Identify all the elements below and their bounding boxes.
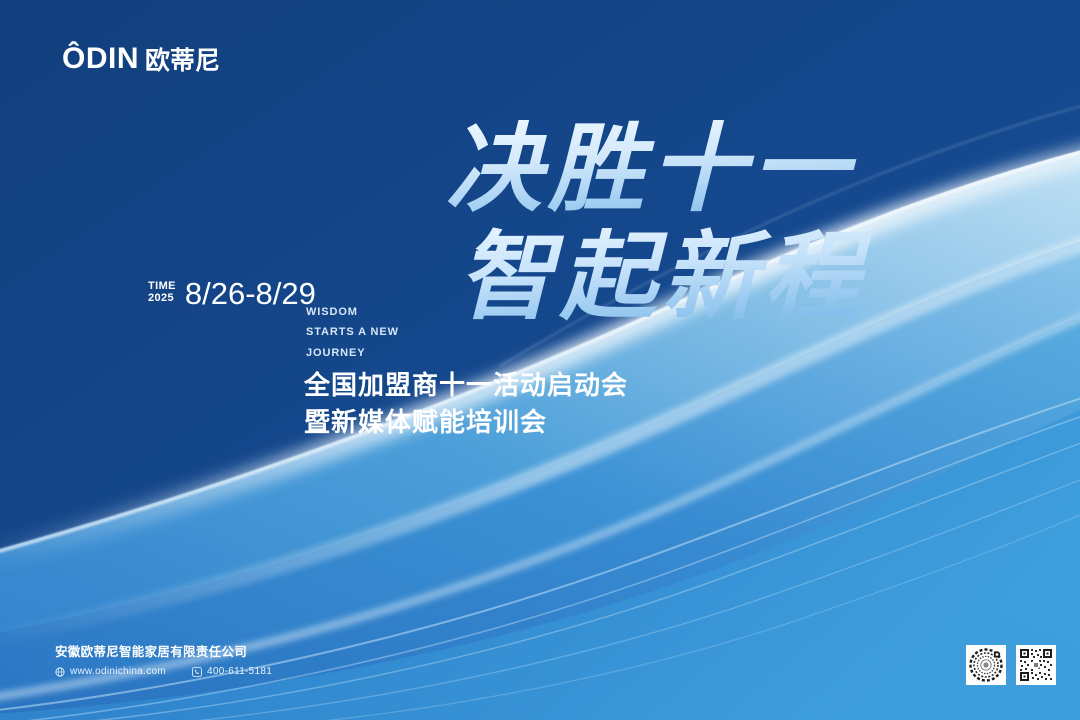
footer-phone[interactable]: 400-611-5181 <box>192 666 272 677</box>
headline-line-2: 智起新程 <box>458 221 873 333</box>
event-date-label-time: TIME <box>148 281 176 293</box>
event-date-range: 8/26-8/29 <box>185 278 316 309</box>
footer-company-name: 安徽欧蒂尼智能家居有限责任公司 <box>55 644 272 659</box>
brand-logo-latin: ÔDIN <box>62 44 139 74</box>
event-date-label: TIME 2025 <box>148 281 176 306</box>
qr-code-group <box>966 645 1056 685</box>
circular-qr-code[interactable] <box>966 645 1006 685</box>
event-subtitle-line-2: 暨新媒体赋能培训会 <box>304 405 628 442</box>
english-tagline: WISDOM STARTS A NEW JOURNEY <box>306 302 399 363</box>
footer-website[interactable]: www.odinichina.com <box>55 666 166 677</box>
event-subtitle-line-1: 全国加盟商十一活动启动会 <box>304 368 628 405</box>
square-qr-code[interactable] <box>1016 645 1056 685</box>
phone-icon <box>192 667 202 677</box>
footer-phone-text: 400-611-5181 <box>207 666 272 677</box>
event-date: TIME 2025 8/26-8/29 <box>148 278 316 309</box>
event-poster: ÔDIN 欧蒂尼 决胜十一 智起新程 TIME <box>0 0 1080 720</box>
brand-logo-cjk: 欧蒂尼 <box>145 48 220 74</box>
event-subtitle: 全国加盟商十一活动启动会 暨新媒体赋能培训会 <box>304 368 628 442</box>
headline-calligraphy: 决胜十一 智起新程 <box>440 110 910 340</box>
globe-icon <box>55 667 65 677</box>
tagline-line-2: STARTS A NEW <box>306 322 399 342</box>
tagline-line-3: JOURNEY <box>306 343 399 363</box>
brand-logo: ÔDIN 欧蒂尼 <box>62 44 220 74</box>
background-wave-graphic <box>0 0 1080 720</box>
tagline-line-1: WISDOM <box>306 302 399 322</box>
headline-line-1: 决胜十一 <box>446 113 857 225</box>
footer-website-text: www.odinichina.com <box>70 666 166 677</box>
footer-block: 安徽欧蒂尼智能家居有限责任公司 www.odinichina.com 400-6… <box>55 644 272 677</box>
footer-contact-row: www.odinichina.com 400-611-5181 <box>55 666 272 677</box>
event-date-label-year: 2025 <box>148 293 176 305</box>
